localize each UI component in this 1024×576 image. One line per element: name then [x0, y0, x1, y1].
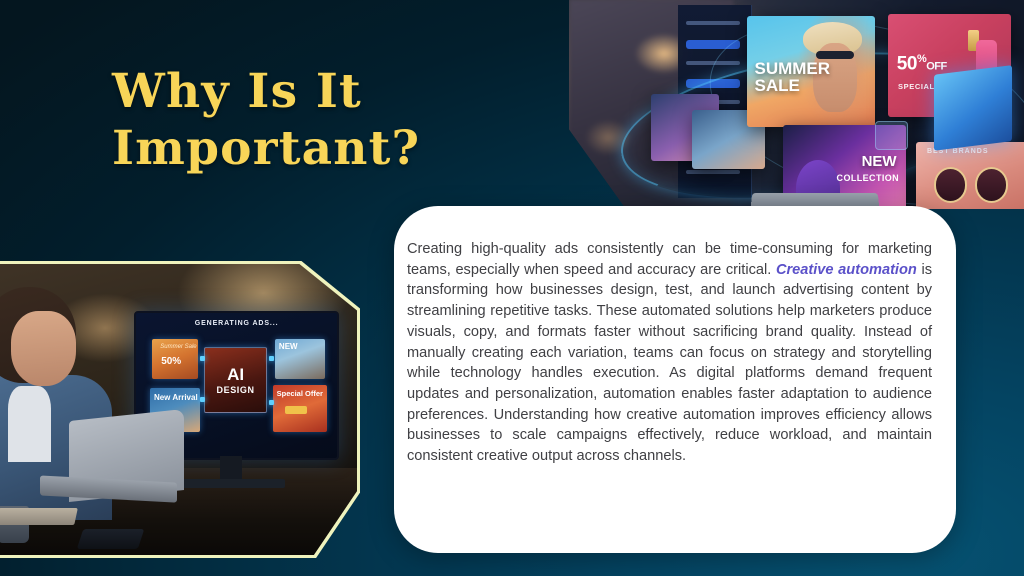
- discount-value: 50%OFF: [897, 53, 947, 75]
- hero-image-backdrop: SUMMER SALE 50%OFF SPECIAL OFFER NEW COL…: [569, 0, 1024, 209]
- slide-title-line2: Important?: [112, 121, 532, 178]
- highlighted-term: Creative automation: [776, 262, 917, 278]
- monitor-ad-summer-discount: Summer Sale 50%: [152, 339, 198, 380]
- slide-canvas: SUMMER SALE 50%OFF SPECIAL OFFER NEW COL…: [0, 0, 1024, 576]
- hero-ad-summer-sale: SUMMER SALE: [747, 16, 875, 127]
- hero-collage-image: SUMMER SALE 50%OFF SPECIAL OFFER NEW COL…: [569, 0, 1024, 209]
- monitor-base: [177, 479, 285, 488]
- monitor-cta-button: [285, 406, 307, 414]
- summer-sale-line1: SUMMER: [754, 60, 830, 77]
- discount-number: 50: [897, 53, 917, 74]
- new-collection-line2: COLLECTION: [837, 173, 900, 183]
- body-text-card: Creating high-quality ads consistently c…: [394, 206, 956, 553]
- body-text-part2: is transforming how businesses design, t…: [407, 262, 932, 464]
- ai-design-line1: AI: [227, 366, 244, 383]
- monitor-ad-new-shoe: NEW: [275, 339, 325, 380]
- ai-design-line2: DESIGN: [217, 385, 255, 395]
- monitor-special-offer-label: Special Offer: [277, 389, 323, 398]
- monitor-new-arrival-label: New Arrival: [154, 393, 198, 402]
- new-collection-line1: NEW: [862, 153, 897, 170]
- smartphone: [76, 529, 144, 549]
- monitor-summer-label: Summer Sale: [160, 344, 196, 350]
- monitor-discount-label: 50%: [161, 356, 181, 367]
- workspace-photo-frame: GENERATING ADS... Summer Sale 50% New Ar…: [0, 261, 360, 558]
- person-shirt: [8, 386, 51, 462]
- sunglasses-lens-right: [975, 167, 1009, 202]
- sunglasses-lens-left: [934, 167, 968, 202]
- monitor-status-text: GENERATING ADS...: [195, 320, 279, 327]
- person-face: [11, 311, 76, 387]
- workspace-photo: GENERATING ADS... Summer Sale 50% New Ar…: [0, 264, 357, 555]
- summer-sale-line2: SALE: [754, 77, 830, 94]
- slide-title-line1: Why Is It: [112, 64, 362, 119]
- notepad: [0, 508, 78, 525]
- hologram-app-icon: [875, 121, 909, 150]
- body-paragraph: Creating high-quality ads consistently c…: [407, 239, 932, 467]
- slide-title: Why Is It Important?: [112, 64, 532, 178]
- 3d-box-render: [934, 66, 1012, 151]
- summer-sale-text: SUMMER SALE: [754, 60, 830, 94]
- discount-percent-symbol: %: [917, 53, 926, 65]
- monitor-new-label: NEW: [279, 342, 298, 351]
- hero-ad-sunglasses: BEST BRANDS: [916, 142, 1024, 209]
- monitor-stand: [220, 456, 242, 482]
- monitor-ad-special-offer: Special Offer: [273, 385, 327, 432]
- discount-off-label: OFF: [926, 60, 947, 72]
- monitor-ad-ai-design: AI DESIGN: [204, 347, 266, 413]
